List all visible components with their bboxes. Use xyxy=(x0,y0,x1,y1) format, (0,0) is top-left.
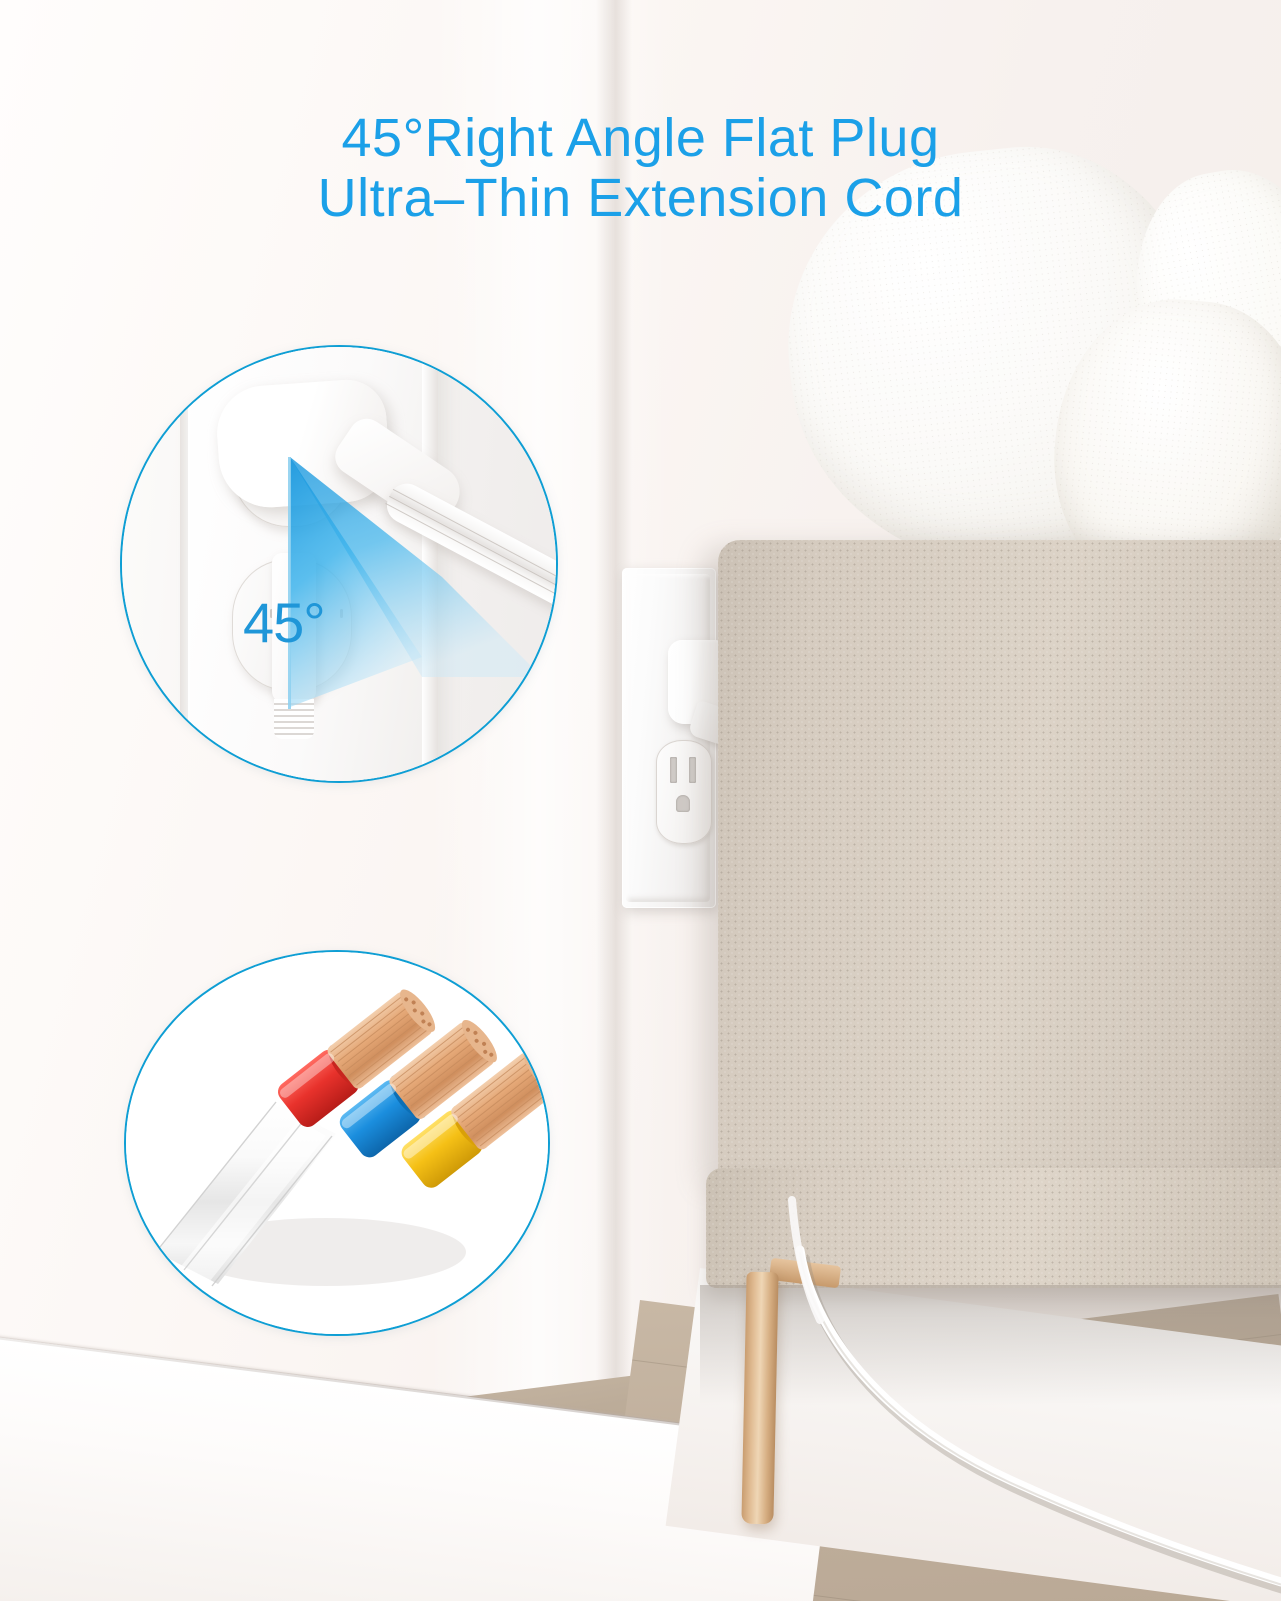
outlet-socket-bottom xyxy=(656,740,712,844)
headline-line-2: Ultra–Thin Extension Cord xyxy=(0,168,1281,228)
headline: 45°Right Angle Flat Plug Ultra–Thin Exte… xyxy=(0,48,1281,288)
sofa-fabric-texture xyxy=(718,540,1281,1180)
outlet-plate-bevel xyxy=(626,574,710,902)
angle-value-label: 45° xyxy=(243,590,325,655)
headline-line-1: 45°Right Angle Flat Plug xyxy=(342,108,940,168)
sofa-backrest xyxy=(718,540,1281,1180)
inset-wire-cross-section xyxy=(124,950,550,1336)
angle-wedge-graphic xyxy=(122,347,556,781)
outlet-slot-right xyxy=(689,757,696,783)
sofa-wooden-leg xyxy=(741,1272,778,1525)
inset-angle-detail xyxy=(120,345,558,783)
sofa-under-shadow xyxy=(700,1285,1281,1405)
outlet-slot-left xyxy=(670,757,677,783)
outlet-ground-pin-hole xyxy=(676,795,690,812)
wire-bundle-illustration xyxy=(126,952,548,1334)
product-marketing-image: 45° xyxy=(0,0,1281,1601)
